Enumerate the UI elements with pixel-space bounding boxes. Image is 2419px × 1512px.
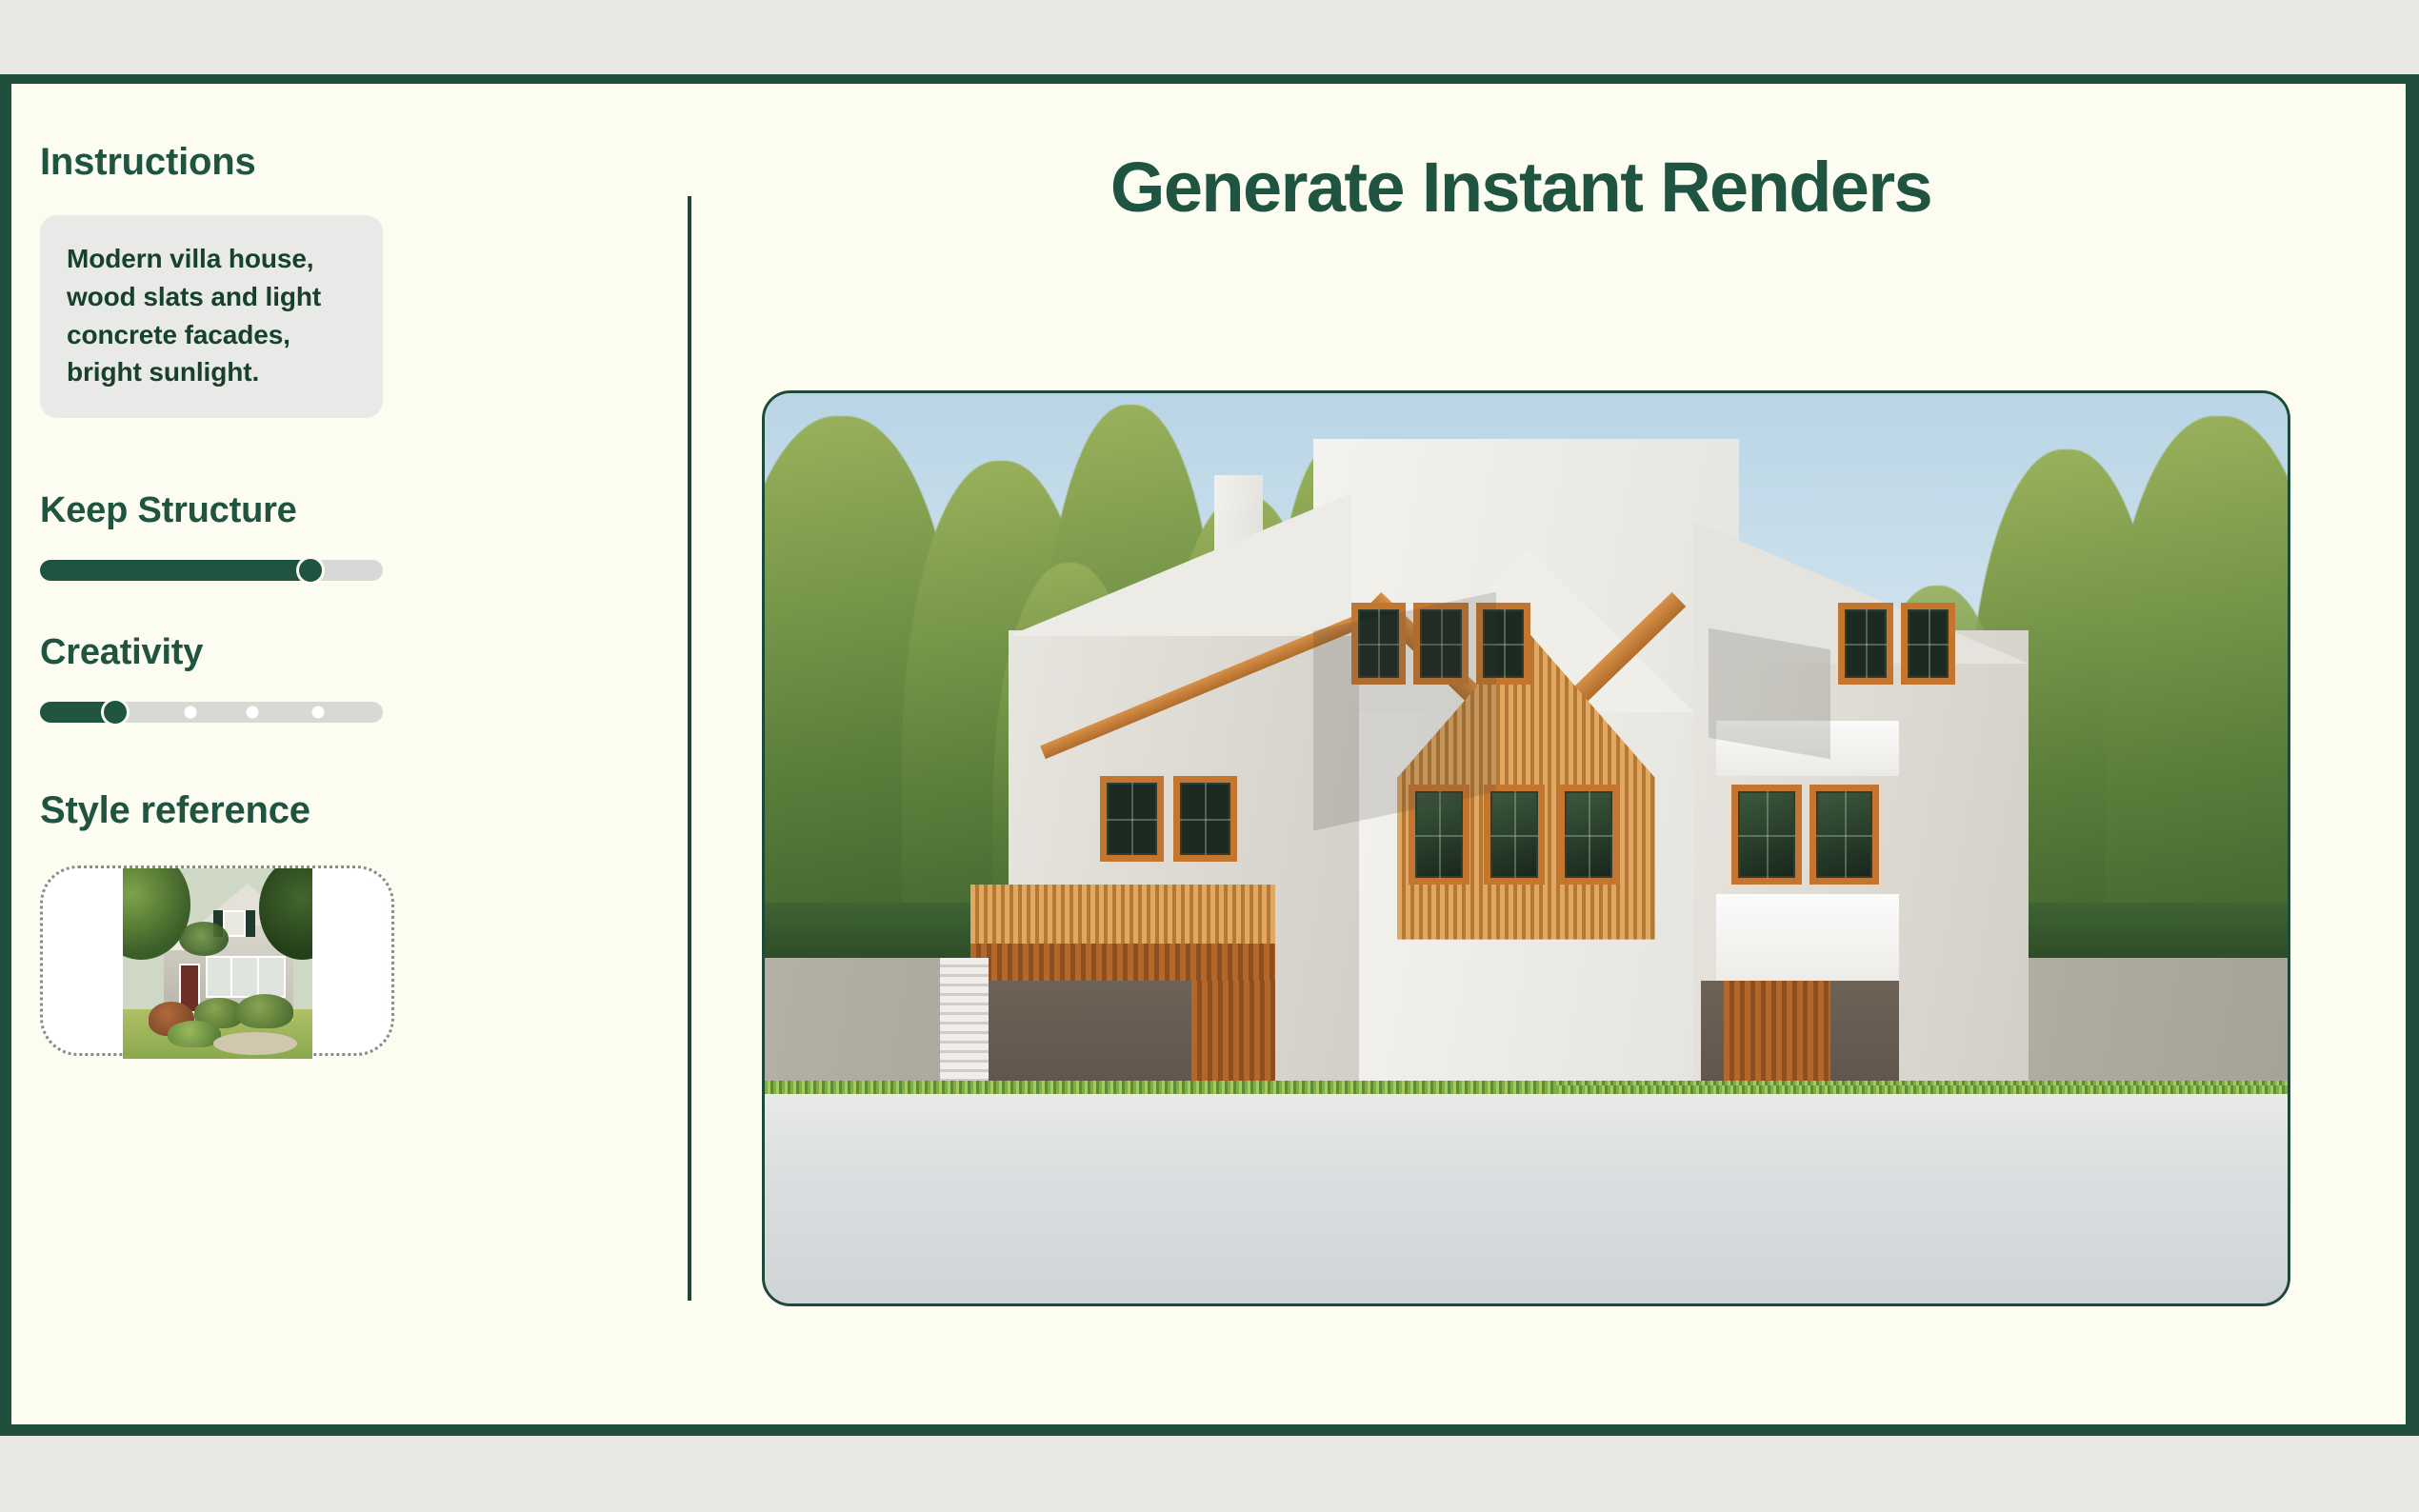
roof-shadow: [1313, 592, 1496, 831]
reference-mullion-2: [257, 956, 259, 998]
upper-window-4: [1838, 603, 1893, 685]
slider-keep-structure: Keep Structure: [40, 490, 630, 581]
reference-shrub-2: [236, 994, 293, 1028]
slider-tick-3: [311, 706, 324, 719]
deck-balustrade: [970, 885, 1275, 944]
style-reference-dropzone[interactable]: [40, 865, 394, 1056]
settings-sidebar: Instructions Modern villa house, wood sl…: [40, 141, 630, 1056]
poplar-10: [2105, 416, 2288, 958]
reference-bay-window: [206, 956, 286, 998]
slider-creativity-track[interactable]: [40, 702, 383, 723]
right-window-2: [1809, 785, 1880, 885]
reference-tree-branch: [179, 922, 229, 956]
balcony-parapet: [1716, 894, 1899, 994]
wing-shadow: [1709, 628, 1830, 759]
slider-keep-structure-fill: [40, 560, 310, 581]
reference-mullion-1: [230, 956, 232, 998]
style-reference-heading: Style reference: [40, 789, 630, 831]
slider-creativity-thumb[interactable]: [101, 698, 130, 726]
reference-shutter-right: [246, 910, 255, 937]
app-card: Instructions Modern villa house, wood sl…: [11, 84, 2406, 1424]
slider-keep-structure-label: Keep Structure: [40, 490, 630, 531]
slider-keep-structure-track[interactable]: [40, 560, 383, 581]
panel-divider: [688, 196, 691, 1301]
center-window-3: [1558, 785, 1619, 885]
mid-window-left-2: [1173, 776, 1237, 863]
slider-creativity: Creativity: [40, 632, 630, 723]
instructions-heading: Instructions: [40, 141, 630, 183]
render-output-image[interactable]: [762, 390, 2290, 1306]
instructions-value[interactable]: Modern villa house, wood slats and light…: [67, 240, 356, 391]
forecourt-plaza: [765, 1094, 2288, 1303]
left-wing-roof: [1009, 493, 1351, 636]
slider-creativity-label: Creativity: [40, 632, 630, 673]
slider-tick-1: [185, 706, 197, 719]
page-title: Generate Instant Renders: [735, 147, 2307, 228]
right-window-1: [1731, 785, 1802, 885]
slider-tick-2: [247, 706, 259, 719]
deck-fascia: [970, 944, 1275, 980]
style-reference-thumbnail[interactable]: [123, 868, 312, 1059]
upper-window-5: [1901, 603, 1956, 685]
reference-walkway: [213, 1032, 297, 1055]
render-panel: Generate Instant Renders: [735, 84, 2406, 1424]
render-canvas: [765, 393, 2288, 1303]
instructions-input[interactable]: Modern villa house, wood slats and light…: [40, 215, 383, 418]
slider-keep-structure-thumb[interactable]: [296, 556, 325, 585]
app-frame: Instructions Modern villa house, wood sl…: [0, 74, 2419, 1436]
mid-window-left-1: [1100, 776, 1164, 863]
center-window-2: [1484, 785, 1545, 885]
